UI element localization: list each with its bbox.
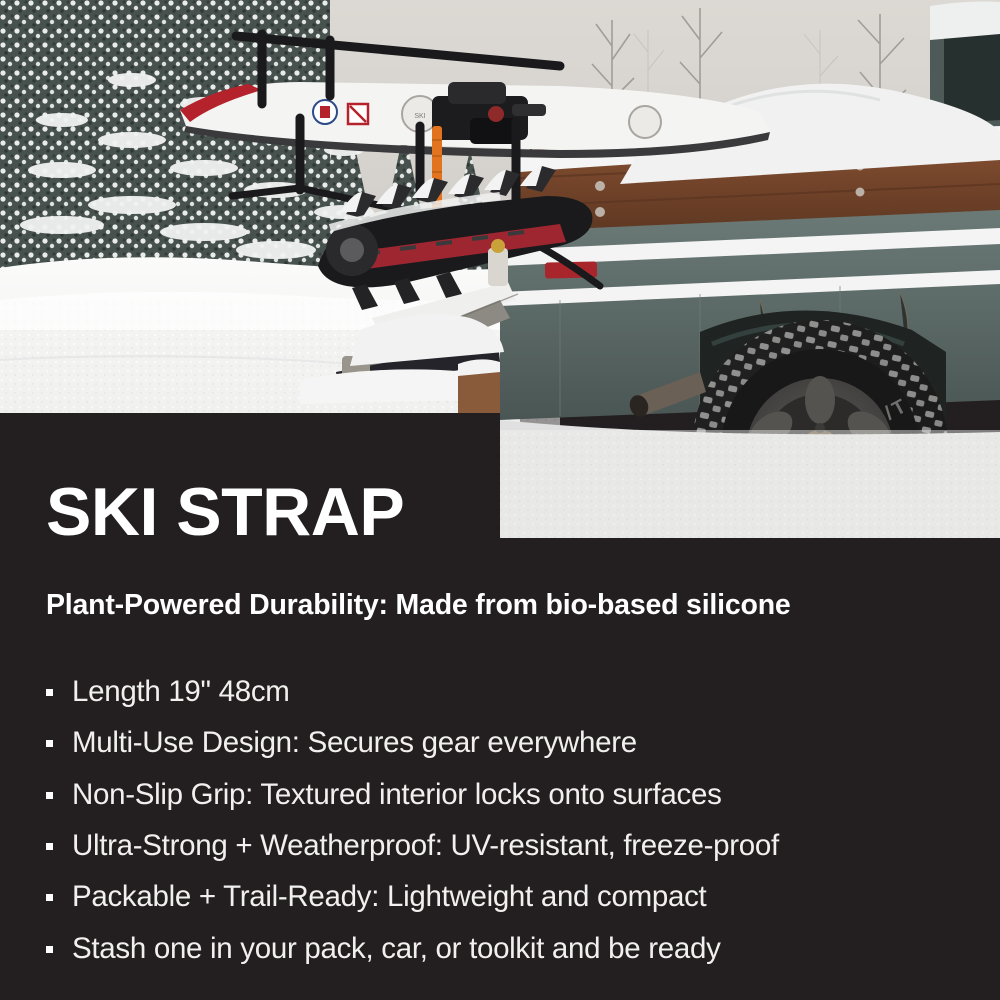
feature-list: Length 19" 48cm Multi-Use Design: Secure…	[46, 676, 986, 966]
list-item: Length 19" 48cm	[46, 676, 986, 708]
list-item-label: Stash one in your pack, car, or toolkit …	[72, 932, 721, 965]
subheading: Plant-Powered Durability: Made from bio-…	[46, 588, 986, 624]
square-bullet-icon	[46, 740, 53, 747]
list-item-label: Multi-Use Design: Secures gear everywher…	[72, 726, 637, 759]
list-item: Multi-Use Design: Secures gear everywher…	[46, 727, 986, 759]
square-bullet-icon	[46, 946, 53, 953]
list-item-label: Length 19" 48cm	[72, 675, 290, 708]
product-feature-card: EVOLUTION M/T	[0, 0, 1000, 1000]
square-bullet-icon	[46, 843, 53, 850]
feature-content: Plant-Powered Durability: Made from bio-…	[46, 588, 986, 965]
list-item-label: Ultra-Strong + Weatherproof: UV-resistan…	[72, 829, 779, 862]
svg-text:SKI: SKI	[414, 113, 425, 120]
list-item-label: Packable + Trail-Ready: Lightweight and …	[72, 880, 706, 913]
list-item: Packable + Trail-Ready: Lightweight and …	[46, 881, 986, 913]
list-item: Ultra-Strong + Weatherproof: UV-resistan…	[46, 830, 986, 862]
list-item: Non-Slip Grip: Textured interior locks o…	[46, 779, 986, 811]
list-item: Stash one in your pack, car, or toolkit …	[46, 933, 986, 965]
square-bullet-icon	[46, 792, 53, 799]
list-item-label: Non-Slip Grip: Textured interior locks o…	[72, 778, 722, 811]
square-bullet-icon	[46, 689, 53, 696]
page-title: SKI STRAP	[46, 478, 404, 546]
square-bullet-icon	[46, 894, 53, 901]
